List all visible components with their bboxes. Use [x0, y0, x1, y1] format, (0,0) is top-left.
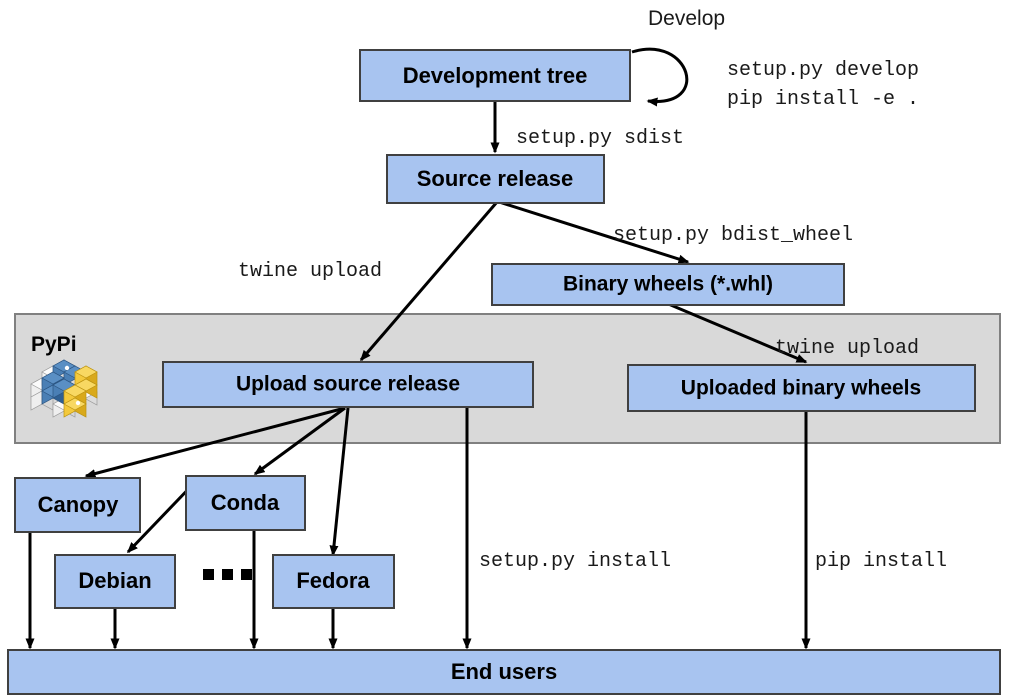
- edge-label-setup-install: setup.py install: [479, 550, 671, 573]
- node-debian[interactable]: Debian: [55, 555, 175, 608]
- edge-label-setup-sdist: setup.py sdist: [516, 127, 684, 150]
- edge-label-develop: Develop: [648, 7, 725, 30]
- edge-label-twine-upload-source: twine upload: [238, 260, 382, 283]
- node-canopy[interactable]: Canopy: [15, 478, 140, 532]
- node-end-users[interactable]: End users: [8, 650, 1000, 694]
- pypi-region-label: PyPi: [31, 333, 77, 356]
- edge-label-setup-develop: setup.py develop: [727, 59, 919, 82]
- edge-label-pip-install-editable: pip install -e .: [727, 88, 919, 111]
- source-release-label: Source release: [417, 166, 574, 191]
- end-users-label: End users: [451, 659, 557, 684]
- conda-label: Conda: [211, 490, 280, 515]
- node-binary-wheels[interactable]: Binary wheels (*.whl): [492, 264, 844, 305]
- debian-label: Debian: [78, 568, 151, 593]
- edge-label-twine-upload-wheels: twine upload: [775, 337, 919, 360]
- node-development-tree[interactable]: Development tree: [360, 50, 630, 101]
- development-tree-label: Development tree: [403, 63, 588, 88]
- edge-label-pip-install: pip install: [815, 550, 947, 573]
- ellipsis-more-distros: [203, 569, 252, 580]
- binary-wheels-label: Binary wheels (*.whl): [563, 273, 773, 296]
- ellipsis-dot-3: [241, 569, 252, 580]
- ellipsis-dot-1: [203, 569, 214, 580]
- edge-label-setup-bdist-wheel: setup.py bdist_wheel: [613, 224, 853, 247]
- node-uploaded-binary-wheels[interactable]: Uploaded binary wheels: [628, 365, 975, 411]
- node-upload-source-release[interactable]: Upload source release: [163, 362, 533, 407]
- upload-source-release-label: Upload source release: [236, 373, 460, 396]
- packaging-flow-diagram: PyPi: [0, 0, 1009, 698]
- node-fedora[interactable]: Fedora: [273, 555, 394, 608]
- canopy-label: Canopy: [38, 492, 119, 517]
- edge-develop-self-loop: [632, 49, 687, 101]
- uploaded-binary-wheels-label: Uploaded binary wheels: [681, 377, 921, 400]
- ellipsis-dot-2: [222, 569, 233, 580]
- node-conda[interactable]: Conda: [186, 476, 305, 530]
- fedora-label: Fedora: [296, 568, 370, 593]
- node-source-release[interactable]: Source release: [387, 155, 604, 203]
